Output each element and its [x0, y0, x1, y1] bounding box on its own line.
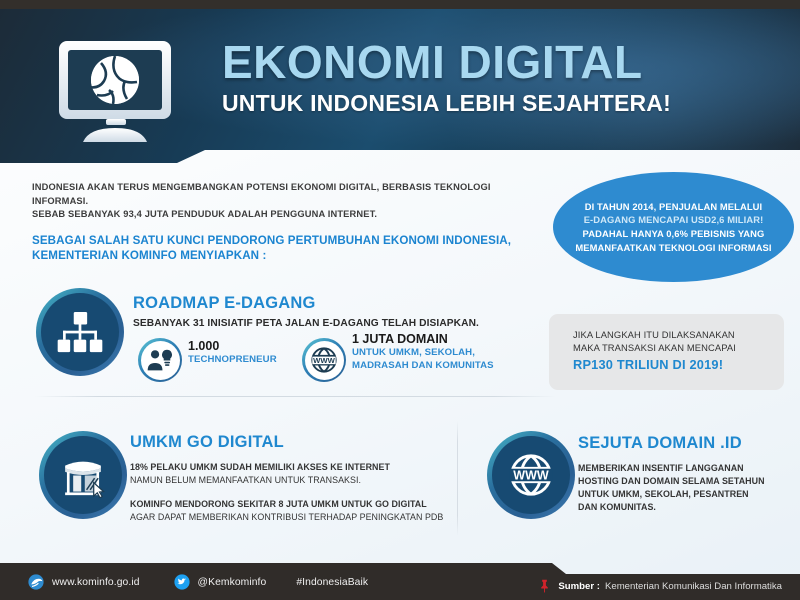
- projection-line-1: JIKA LANGKAH ITU DILAKSANAKAN: [573, 328, 784, 341]
- domain-stat-value: 1 JUTA DOMAIN: [352, 332, 494, 347]
- projection-line-2: MAKA TRANSAKSI AKAN MENCAPAI: [573, 341, 784, 354]
- callout-line-4: MEMANFAATKAN TEKNOLOGI INFORMASI: [575, 241, 771, 255]
- footer-twitter-handle: @Kemkominfo: [198, 577, 267, 588]
- domain-p-line2: HOSTING DAN DOMAIN SELAMA SETAHUN: [578, 475, 793, 488]
- footer-source-value: Kementerian Komunikasi Dan Informatika: [605, 581, 782, 592]
- header-title-group: EKONOMI DIGITAL UNTUK INDONESIA LEBIH SE…: [222, 37, 671, 117]
- domain-stat-label-2: MADRASAH DAN KOMUNITAS: [352, 360, 494, 373]
- roadmap-title: ROADMAP E-DAGANG: [133, 294, 533, 313]
- kominfo-logo-icon: [28, 574, 44, 590]
- footer-hashtag[interactable]: #IndonesiaBaik: [296, 577, 368, 588]
- www-globe-icon: WWW: [487, 431, 575, 519]
- callout-line-1: DI TAHUN 2014, PENJUALAN MELALUI: [575, 200, 771, 214]
- domain-title: SEJUTA DOMAIN .ID: [578, 434, 793, 453]
- technopreneur-icon: [138, 338, 182, 382]
- infographic-canvas: EKONOMI DIGITAL UNTUK INDONESIA LEBIH SE…: [0, 0, 800, 600]
- footer-bar: www.kominfo.go.id @Kemkominfo #Indonesia…: [0, 563, 800, 600]
- callout-line-2: E-DAGANG MENCAPAI USD2,6 MILIAR!: [575, 213, 771, 227]
- domain-p-line4: DAN KOMUNITAS.: [578, 501, 793, 514]
- umkm-p2-line1: KOMINFO MENDORONG SEKITAR 8 JUTA UMKM UN…: [130, 498, 450, 511]
- technopreneur-stat: 1.000 TECHNOPRENEUR: [188, 339, 277, 367]
- technopreneur-label: TECHNOPRENEUR: [188, 354, 277, 367]
- storefront-cursor-icon: [39, 431, 127, 519]
- intro-line-1: INDONESIA AKAN TERUS MENGEMBANGKAN POTEN…: [32, 181, 537, 208]
- www-globe-icon: WWW: [302, 338, 346, 382]
- footer-source: Sumber : Kementerian Komunikasi Dan Info…: [539, 579, 782, 593]
- org-chart-icon: [36, 288, 124, 376]
- footer-links: www.kominfo.go.id @Kemkominfo #Indonesia…: [28, 574, 368, 590]
- roadmap-text-block: ROADMAP E-DAGANG SEBANYAK 31 INISIATIF P…: [133, 294, 533, 329]
- footer-twitter[interactable]: @Kemkominfo: [174, 574, 267, 590]
- domain-p-line1: MEMBERIKAN INSENTIF LANGGANAN: [578, 462, 793, 475]
- intro-block: INDONESIA AKAN TERUS MENGEMBANGKAN POTEN…: [32, 181, 537, 263]
- twitter-icon: [174, 574, 190, 590]
- monitor-globe-icon: [57, 39, 175, 149]
- footer-website-label: www.kominfo.go.id: [52, 577, 140, 588]
- umkm-p2-line2: AGAR DAPAT MEMBERIKAN KONTRIBUSI TERHADA…: [130, 511, 450, 524]
- intro-heading-1: SEBAGAI SALAH SATU KUNCI PENDORONG PERTU…: [32, 233, 537, 248]
- umkm-text-block: UMKM GO DIGITAL 18% PELAKU UMKM SUDAH ME…: [130, 433, 450, 524]
- umkm-p1-line2: NAMUN BELUM MEMANFAATKAN UNTUK TRANSAKSI…: [130, 474, 450, 487]
- domain-text-block: SEJUTA DOMAIN .ID MEMBERIKAN INSENTIF LA…: [578, 434, 793, 514]
- vertical-divider: [457, 421, 458, 536]
- stat-callout-bubble: DI TAHUN 2014, PENJUALAN MELALUI E-DAGAN…: [553, 172, 794, 282]
- page-subtitle: UNTUK INDONESIA LEBIH SEJAHTERA!: [222, 89, 671, 117]
- umkm-p1-line1: 18% PELAKU UMKM SUDAH MEMILIKI AKSES KE …: [130, 461, 450, 474]
- domain-p-line3: UNTUK UMKM, SEKOLAH, PESANTREN: [578, 488, 793, 501]
- pushpin-icon: [539, 579, 550, 593]
- projection-card: JIKA LANGKAH ITU DILAKSANAKAN MAKA TRANS…: [549, 314, 784, 390]
- page-title: EKONOMI DIGITAL: [222, 37, 671, 87]
- roadmap-subtitle: SEBANYAK 31 INISIATIF PETA JALAN E-DAGAN…: [133, 318, 533, 329]
- domain-stat: 1 JUTA DOMAIN UNTUK UMKM, SEKOLAH, MADRA…: [352, 332, 494, 372]
- technopreneur-value: 1.000: [188, 339, 277, 354]
- callout-line-3: PADAHAL HANYA 0,6% PEBISNIS YANG: [575, 227, 771, 241]
- header-banner: EKONOMI DIGITAL UNTUK INDONESIA LEBIH SE…: [0, 9, 800, 163]
- intro-heading-2: KEMENTERIAN KOMINFO MENYIAPKAN :: [32, 248, 537, 263]
- svg-text:WWW: WWW: [513, 468, 549, 482]
- horizontal-divider: [35, 396, 556, 397]
- intro-line-2: SEBAB SEBANYAK 93,4 JUTA PENDUDUK ADALAH…: [32, 208, 537, 222]
- svg-text:WWW: WWW: [313, 356, 335, 365]
- projection-highlight: RP130 TRILIUN DI 2019!: [573, 356, 784, 374]
- top-strip: [0, 0, 800, 9]
- domain-stat-label-1: UNTUK UMKM, SEKOLAH,: [352, 347, 494, 360]
- footer-hashtag-label: #IndonesiaBaik: [296, 577, 368, 588]
- umkm-title: UMKM GO DIGITAL: [130, 433, 450, 452]
- footer-source-label: Sumber :: [558, 581, 600, 592]
- footer-website[interactable]: www.kominfo.go.id: [28, 574, 140, 590]
